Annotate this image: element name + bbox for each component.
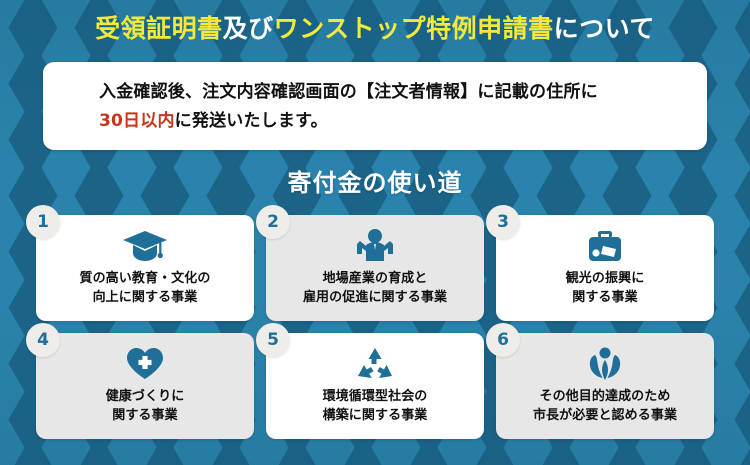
card-number-badge: 5 [256, 323, 290, 357]
card-number-badge: 1 [26, 205, 60, 239]
notice-line-1: 入金確認後、注文内容確認画面の【注文者情報】に記載の住所に [99, 78, 687, 107]
poster-root: 受領証明書及びワンストップ特例申請書について 入金確認後、注文内容確認画面の【注… [0, 0, 750, 465]
card-label-line2: 雇用の促進に関する事業 [303, 288, 447, 307]
person-in-hands-icon [584, 345, 626, 383]
notice-box: 入金確認後、注文内容確認画面の【注文者情報】に記載の住所に 30日以内に発送いた… [43, 62, 707, 150]
card-label-line2: 構築に関する事業 [323, 406, 428, 425]
usage-card[interactable]: 6 その他目的達成のため 市長が必要と認める事業 [496, 333, 714, 439]
card-label: 環境循環型社会の 構築に関する事業 [323, 387, 428, 425]
card-label-line1: 質の高い教育・文化の [79, 269, 210, 288]
card-label-line2: 市長が必要と認める事業 [533, 406, 677, 425]
card-label-line1: 地場産業の育成と [303, 269, 447, 288]
page-title-part4: について [554, 14, 655, 43]
cheering-person-icon [352, 227, 398, 265]
card-label-line1: 環境循環型社会の [323, 387, 428, 406]
usage-card[interactable]: 4 健康づくりに 関する事業 [36, 333, 254, 439]
card-label: 質の高い教育・文化の 向上に関する事業 [79, 269, 210, 307]
card-number-badge: 3 [486, 205, 520, 239]
recycle-icon [354, 345, 396, 383]
notice-line-2-rest: に発送いたします。 [175, 111, 328, 131]
card-label-line2: 関する事業 [566, 288, 645, 307]
card-number-badge: 2 [256, 205, 290, 239]
card-label: 観光の振興に 関する事業 [566, 269, 645, 307]
heart-plus-icon [124, 345, 166, 383]
card-number-badge: 6 [486, 323, 520, 357]
usage-cards-grid: 1 質の高い教育・文化の 向上に関する事業 2 [36, 215, 714, 439]
page-title: 受領証明書及びワンストップ特例申請書について [0, 12, 750, 46]
graduation-cap-icon [122, 227, 168, 265]
usage-card[interactable]: 1 質の高い教育・文化の 向上に関する事業 [36, 215, 254, 321]
card-label-line1: 観光の振興に [566, 269, 645, 288]
card-label: その他目的達成のため 市長が必要と認める事業 [533, 387, 677, 425]
card-label-line2: 関する事業 [106, 406, 185, 425]
notice-line-2: 30日以内に発送いたします。 [99, 107, 687, 136]
page-title-part3: ワンストップ特例申請書 [274, 14, 554, 43]
usage-card[interactable]: 2 地場産業の育成と 雇用の促進に関する事業 [266, 215, 484, 321]
usage-card[interactable]: 5 環境循環型社会の 構築に関する事業 [266, 333, 484, 439]
card-label-line1: その他目的達成のため [533, 387, 677, 406]
page-title-part2: 及び [223, 14, 274, 43]
card-number-badge: 4 [26, 323, 60, 357]
notice-deadline-highlight: 30日以内 [99, 111, 175, 131]
card-label: 地場産業の育成と 雇用の促進に関する事業 [303, 269, 447, 307]
card-label-line2: 向上に関する事業 [79, 288, 210, 307]
card-label: 健康づくりに 関する事業 [106, 387, 185, 425]
page-title-part1: 受領証明書 [95, 14, 223, 43]
section-heading: 寄付金の使い道 [0, 163, 750, 198]
card-label-line1: 健康づくりに [106, 387, 185, 406]
usage-card[interactable]: 3 観光の振興に 関する事業 [496, 215, 714, 321]
suitcase-camera-icon [582, 227, 628, 265]
